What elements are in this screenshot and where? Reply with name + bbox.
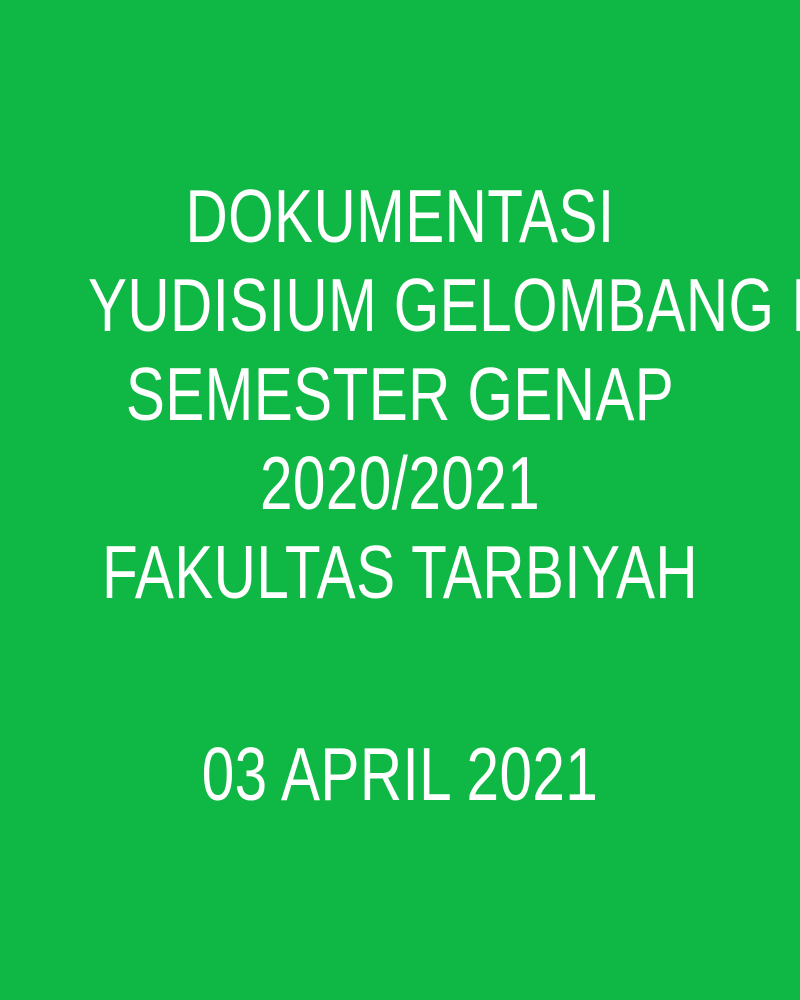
poster-title-line-5: FAKULTAS TARBIYAH	[88, 528, 712, 617]
poster-date-block: 03 APRIL 2021	[0, 730, 800, 819]
poster-title-line-1: DOKUMENTASI	[88, 172, 712, 261]
poster-slide: DOKUMENTASI YUDISIUM GELOMBANG I SEMESTE…	[0, 0, 800, 1000]
poster-date-line-1: 03 APRIL 2021	[88, 730, 712, 819]
poster-title-line-3: SEMESTER GENAP	[88, 350, 712, 439]
poster-title-line-2: YUDISIUM GELOMBANG I	[88, 261, 712, 350]
poster-title-block: DOKUMENTASI YUDISIUM GELOMBANG I SEMESTE…	[0, 172, 800, 617]
poster-title-line-4: 2020/2021	[88, 439, 712, 528]
